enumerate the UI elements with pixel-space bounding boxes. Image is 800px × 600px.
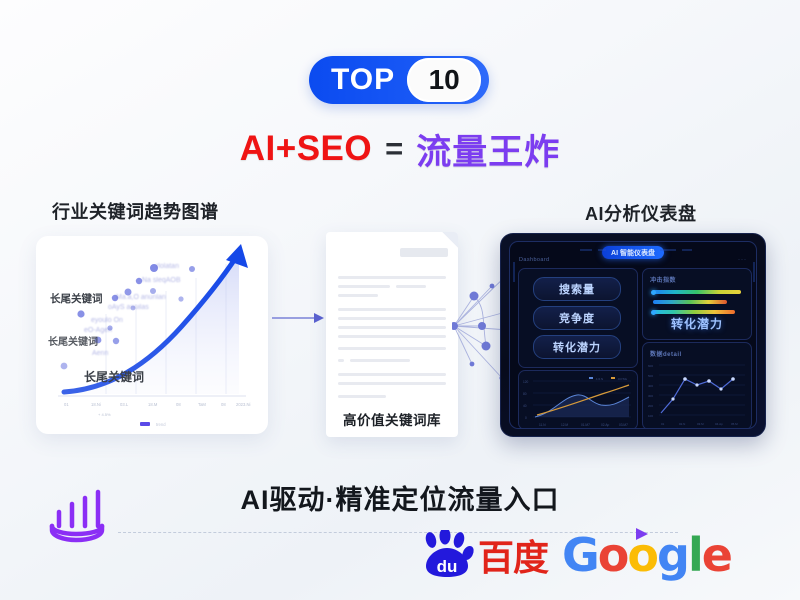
svg-text:18.Ni: 18.Ni xyxy=(91,402,101,407)
area-chart-svg: 12080 400 11.N12.M 01.M702.Ap03.M7 ·1:0.… xyxy=(519,371,637,429)
gauge-handle-1[interactable] xyxy=(651,290,656,295)
document-text-line xyxy=(338,285,390,288)
svg-text:04.Ap: 04.Ap xyxy=(715,422,723,426)
svg-text:01: 01 xyxy=(64,402,69,407)
bar-chart-icon xyxy=(46,486,116,544)
document-text-line xyxy=(396,285,426,288)
headline-purple-part: 流量王炸 xyxy=(416,124,560,175)
data-trend-panel: 数据detail xyxy=(642,342,752,429)
google-letter-g2: g xyxy=(657,528,688,582)
baidu-paw-icon: du xyxy=(418,530,476,580)
document-text-line xyxy=(338,326,446,329)
document-card-label: 高价值关键词库 xyxy=(326,409,458,429)
search-engine-logos: du 百度 Google xyxy=(418,524,758,586)
impact-index-title: 冲击指数 xyxy=(650,275,676,284)
baidu-wordmark: 百度 xyxy=(478,529,548,581)
gradient-bar-3 xyxy=(653,310,735,314)
metric-pill-conversion[interactable]: 转化潜力 xyxy=(533,335,621,359)
svg-text:+ 4.5%: + 4.5% xyxy=(98,412,111,417)
svg-text:600: 600 xyxy=(648,364,653,368)
document-bullet xyxy=(338,359,344,362)
trend-chart-graphic: 01 18.Ni 03.L 18.M 08 TaM 08 2023.Ni + 4… xyxy=(36,236,268,434)
decorative-word: eyoulo On xyxy=(91,317,123,324)
svg-text:TaM: TaM xyxy=(198,402,206,407)
svg-text:·0.P.Ms: ·0.P.Ms xyxy=(617,377,627,381)
google-letter-o1: o xyxy=(598,528,628,582)
gauge-handle-2[interactable] xyxy=(651,310,656,315)
svg-text:300: 300 xyxy=(648,394,653,398)
document-text-line xyxy=(338,382,446,385)
svg-text:01.M7: 01.M7 xyxy=(581,423,590,427)
svg-text:03.M7: 03.M7 xyxy=(619,423,628,427)
metrics-panel: 搜索量 竞争度 转化潜力 xyxy=(518,268,638,368)
svg-text:400: 400 xyxy=(648,384,653,388)
decorative-word: rlolatan xyxy=(156,263,179,270)
keyword-label: 长尾关键词 xyxy=(48,333,98,348)
document-text-line xyxy=(338,294,378,297)
document-text-line xyxy=(338,276,446,279)
document-text-line xyxy=(338,335,446,338)
bottom-tagline: AI驱动·精准定位流量入口 xyxy=(0,478,800,517)
svg-text:12.M: 12.M xyxy=(561,423,568,427)
document-header-chip xyxy=(400,248,448,257)
ai-dashboard-card: AI 智能仪表盘 Dashboard ··· 搜索量 竞争度 转化潜力 xyxy=(500,233,766,437)
svg-text:05.M: 05.M xyxy=(731,422,738,426)
svg-text:40: 40 xyxy=(523,404,527,408)
gradient-bar-1 xyxy=(653,290,741,294)
document-text-line xyxy=(350,359,410,362)
headline-equals: = xyxy=(385,131,403,167)
svg-text:08: 08 xyxy=(221,402,226,407)
document-text-line xyxy=(338,395,386,398)
impact-index-panel: 冲击指数 转化潜力 xyxy=(642,268,752,340)
decorative-word: Na sleqAOB xyxy=(142,277,181,284)
document-text-line xyxy=(338,317,446,320)
slide-canvas: TOP 10 AI+SEO = 流量王炸 行业关键词趋势图谱 AI分析仪表盘 xyxy=(0,0,800,600)
right-section-caption: AI分析仪表盘 xyxy=(585,200,697,226)
svg-text:11.N: 11.N xyxy=(539,423,546,427)
google-letter-g1: G xyxy=(562,528,598,582)
svg-text:03.M: 03.M xyxy=(697,422,704,426)
keyword-label: 长尾关键词 xyxy=(84,368,144,385)
svg-text:500: 500 xyxy=(648,374,653,378)
document-folded-corner-icon xyxy=(442,232,458,248)
headline-red-part: AI+SEO xyxy=(240,129,372,169)
document-text-line xyxy=(338,308,446,311)
keyword-label: 长尾关键词 xyxy=(50,291,103,306)
top-badge-number-circle: 10 xyxy=(407,58,481,102)
trend-chart-card: 01 18.Ni 03.L 18.M 08 TaM 08 2023.Ni + 4… xyxy=(36,236,268,434)
svg-text:02.N: 02.N xyxy=(679,422,685,426)
svg-text:2023.Ni: 2023.Ni xyxy=(236,402,251,407)
headline: AI+SEO = 流量王炸 xyxy=(0,126,800,172)
google-letter-l: l xyxy=(688,528,702,582)
decorative-word: eO-Agen xyxy=(84,327,112,334)
svg-text:08: 08 xyxy=(176,402,181,407)
keyword-library-document-card: 高价值关键词库 xyxy=(326,232,458,437)
document-text-line xyxy=(338,373,446,376)
gradient-bar-2 xyxy=(653,300,727,304)
area-chart-panel: 12080 400 11.N12.M 01.M702.Ap03.M7 ·1:0.… xyxy=(518,370,638,429)
svg-text:18.M: 18.M xyxy=(148,402,158,407)
play-marker-icon xyxy=(634,526,652,547)
top-badge-number: 10 xyxy=(429,66,460,94)
decorative-word: Aenn xyxy=(92,350,108,357)
svg-text:0: 0 xyxy=(525,416,527,420)
svg-text:80: 80 xyxy=(523,392,527,396)
metric-pill-competition[interactable]: 竞争度 xyxy=(533,306,621,330)
top-badge-label: TOP xyxy=(331,65,395,95)
metric-pill-search-volume[interactable]: 搜索量 xyxy=(533,277,621,301)
google-letter-e: e xyxy=(702,528,731,582)
svg-text:·1:0.N: ·1:0.N xyxy=(595,377,603,381)
svg-text:100: 100 xyxy=(648,414,653,418)
svg-text:01: 01 xyxy=(661,422,665,426)
left-section-caption: 行业关键词趋势图谱 xyxy=(52,198,219,224)
svg-text:02.Ap: 02.Ap xyxy=(601,423,610,427)
svg-text:03.L: 03.L xyxy=(120,402,129,407)
baidu-du-text: du xyxy=(437,557,458,576)
document-text-line xyxy=(338,347,446,350)
svg-text:120: 120 xyxy=(523,380,529,384)
decorative-word: oAyS anuilas xyxy=(108,304,149,311)
top-rank-badge: TOP 10 xyxy=(309,56,489,104)
data-trend-title: 数据detail xyxy=(650,349,682,358)
dashboard-screen: AI 智能仪表盘 Dashboard ··· 搜索量 竞争度 转化潜力 xyxy=(509,241,757,429)
decorative-word: Ma.a,O anunlan xyxy=(116,294,166,301)
conversion-overlay-label: 转化潜力 xyxy=(643,315,751,332)
flow-arrow-1 xyxy=(272,310,324,331)
baidu-logo: du 百度 xyxy=(418,529,548,581)
svg-text:200: 200 xyxy=(648,404,653,408)
svg-text:trend: trend xyxy=(156,422,166,427)
